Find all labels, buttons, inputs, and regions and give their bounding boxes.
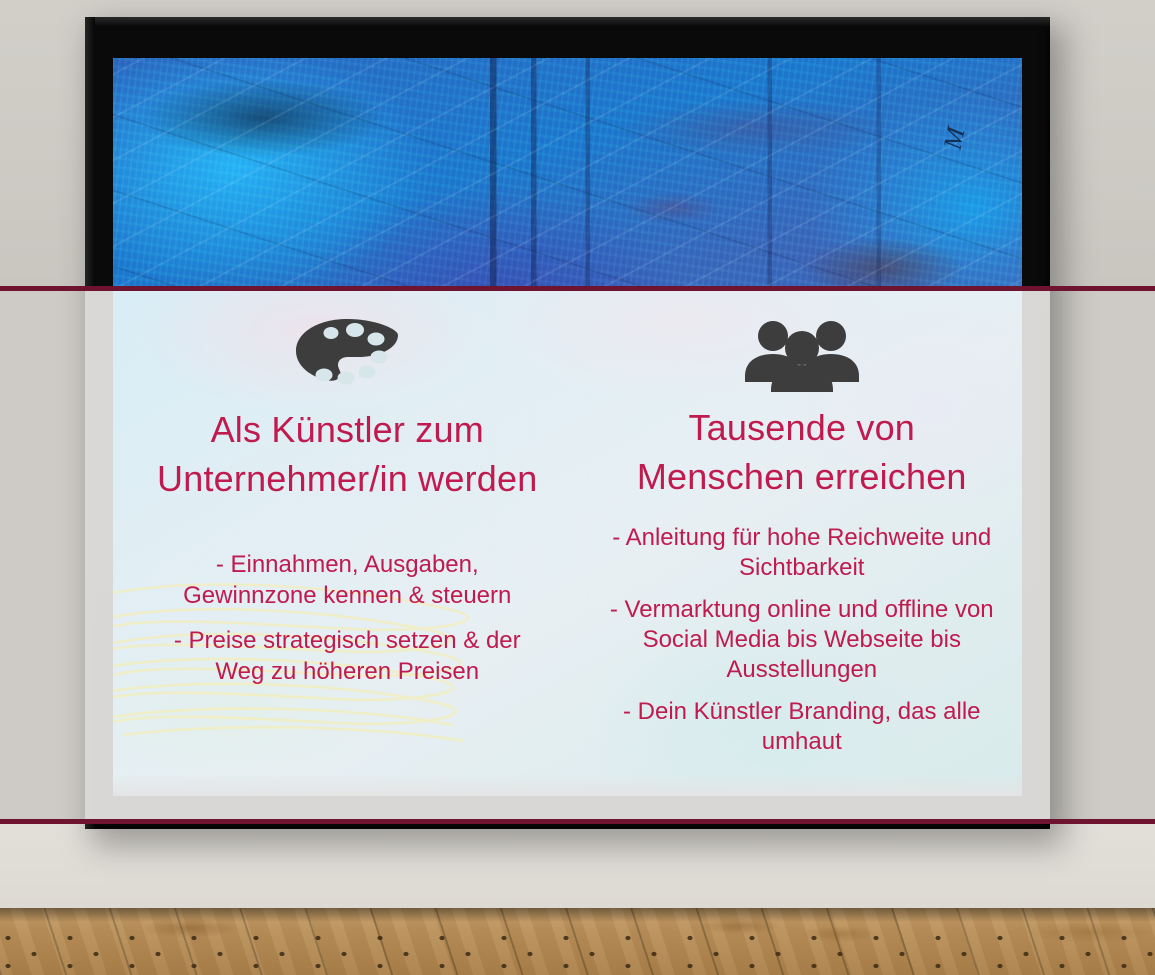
column-bullet-list: - Einnahmen, Ausgaben, Gewinnzone kennen… <box>149 549 546 701</box>
column-reach-thousands: Tausende von Menschen erreichen - Anleit… <box>582 289 1023 796</box>
slide-stage: M <box>0 0 1155 975</box>
two-column-content: Als Künstler zum Unternehmer/in werden -… <box>113 289 1022 796</box>
bullet-item: - Anleitung für hohe Reichweite und Sich… <box>604 523 1001 583</box>
column-artist-to-entrepreneur: Als Künstler zum Unternehmer/in werden -… <box>113 289 582 796</box>
palette-icon <box>293 311 401 397</box>
bullet-item: - Vermarktung online und offline von Soc… <box>604 595 1001 685</box>
divider-rule-bottom <box>0 819 1155 824</box>
column-heading: Tausende von Menschen erreichen <box>604 403 1001 501</box>
bullet-item: - Dein Künstler Branding, das alle umhau… <box>604 697 1001 757</box>
column-bullet-list: - Anleitung für hohe Reichweite und Sich… <box>604 523 1001 769</box>
floor-shadow <box>0 908 1155 922</box>
people-group-icon <box>743 311 861 397</box>
bullet-item: - Preise strategisch setzen & der Weg zu… <box>149 625 546 687</box>
divider-rule-top <box>0 286 1155 291</box>
bullet-item: - Einnahmen, Ausgaben, Gewinnzone kennen… <box>149 549 546 611</box>
column-heading: Als Künstler zum Unternehmer/in werden <box>149 405 546 503</box>
